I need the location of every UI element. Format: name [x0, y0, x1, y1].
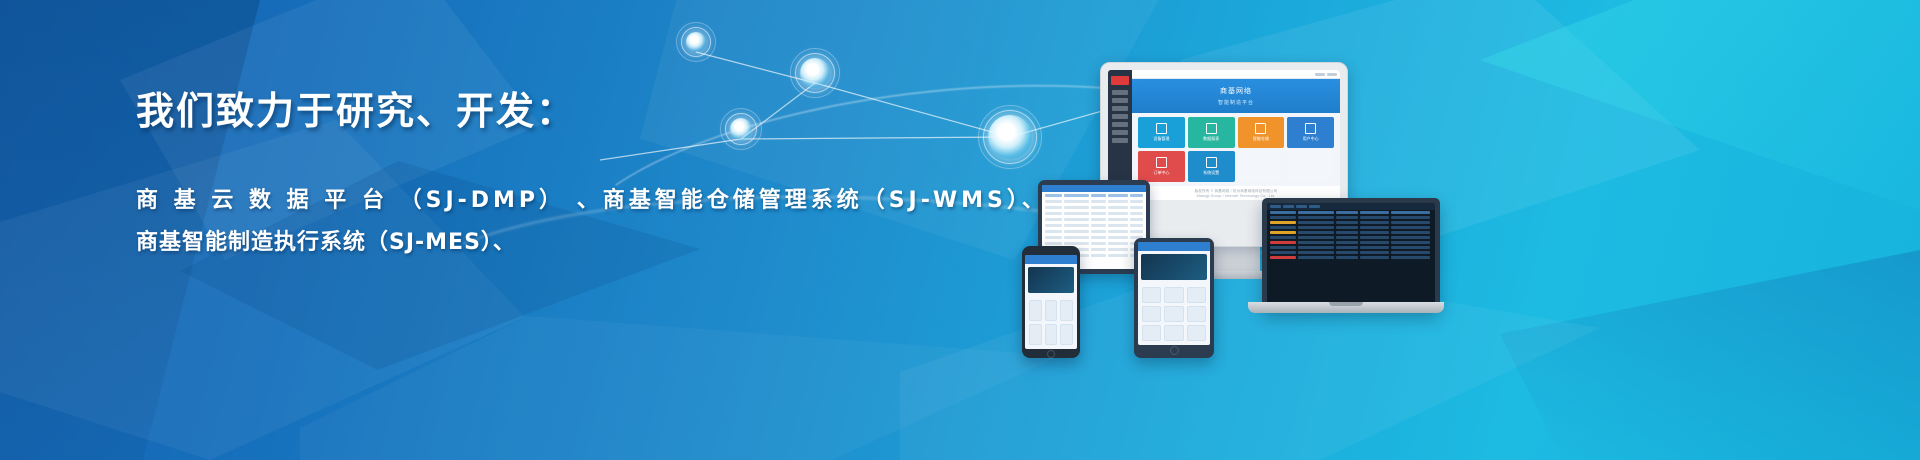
sidebar-item[interactable] [1112, 114, 1128, 119]
bg-polygon-7 [1480, 0, 1920, 300]
app-tile[interactable]: 数据报表 [1188, 117, 1235, 148]
toolbar-button[interactable] [1296, 205, 1307, 208]
app-logo-icon [1111, 76, 1129, 85]
banner-subline-2: 商基智能制造执行系统（SJ-MES）、 [136, 222, 956, 264]
app-tile-label: 系统设置 [1203, 170, 1219, 176]
phone-mockup [1022, 246, 1080, 358]
grid-item[interactable] [1164, 325, 1183, 341]
banner-copy: 我们致力于研究、开发： 商 基 云 数 据 平 台 （SJ-DMP） 、商基智能… [136, 90, 956, 264]
hero-banner: 我们致力于研究、开发： 商 基 云 数 据 平 台 （SJ-DMP） 、商基智能… [0, 0, 1920, 460]
laptop-screen [1267, 203, 1435, 307]
cart-icon [1156, 157, 1167, 168]
grid-item[interactable] [1029, 300, 1042, 321]
mini-table-dark [1267, 203, 1435, 307]
search-icon[interactable] [1315, 73, 1325, 76]
grid-item[interactable] [1029, 324, 1042, 345]
app-footer-en: Shangji Group / Internet Technology Co.,… [1197, 194, 1276, 198]
app-topbar[interactable] [1132, 70, 1340, 79]
banner-headline: 我们致力于研究、开发： [136, 90, 956, 134]
sidebar-item[interactable] [1112, 90, 1128, 95]
app-tile-grid: 设备管理 数据报表 智能仓储 [1132, 113, 1340, 186]
laptop-trackpad-notch [1329, 302, 1363, 306]
phone-screen [1025, 255, 1077, 349]
mini-app-ui [1138, 242, 1210, 345]
mini-app-header [1138, 242, 1210, 251]
mini-table-toolbar[interactable] [1267, 203, 1435, 210]
network-node-2-icon [800, 58, 830, 88]
sidebar-item[interactable] [1112, 138, 1128, 143]
table-row [1267, 255, 1435, 260]
chart-icon [1206, 123, 1217, 134]
grid-item[interactable] [1045, 324, 1058, 345]
tablet-portrait-mockup [1134, 238, 1214, 358]
app-tile[interactable]: 用户中心 [1287, 117, 1334, 148]
grid-item[interactable] [1045, 300, 1058, 321]
app-tile-label: 订单中心 [1153, 170, 1169, 176]
box-icon [1255, 123, 1266, 134]
bg-polygon-8 [1500, 250, 1920, 460]
device-mockup-cluster: 商基网络 智能制造平台 设备管理 数据报表 [1000, 50, 1520, 350]
laptop-lid [1262, 198, 1440, 312]
sidebar-item[interactable] [1112, 98, 1128, 103]
gear-icon [1206, 157, 1217, 168]
grid-item[interactable] [1164, 306, 1183, 322]
banner-subline-1: 商 基 云 数 据 平 台 （SJ-DMP） 、商基智能仓储管理系统（SJ-WM… [136, 180, 956, 222]
sidebar-item[interactable] [1112, 122, 1128, 127]
app-tile[interactable]: 订单中心 [1138, 151, 1185, 182]
app-tile[interactable]: 设备管理 [1138, 117, 1185, 148]
mini-app-banner [1141, 254, 1207, 280]
mini-app-grid [1138, 283, 1210, 345]
app-main: 商基网络 智能制造平台 设备管理 数据报表 [1132, 70, 1340, 200]
grid-item[interactable] [1187, 325, 1206, 341]
grid-item[interactable] [1142, 287, 1161, 303]
app-tile-label: 数据报表 [1203, 136, 1219, 142]
app-tile[interactable]: 智能仓储 [1238, 117, 1285, 148]
toolbar-button[interactable] [1283, 205, 1294, 208]
mini-app-header [1025, 255, 1077, 264]
app-hero-title: 商基网络 [1220, 86, 1252, 96]
grid-item[interactable] [1142, 325, 1161, 341]
grid-item[interactable] [1142, 306, 1161, 322]
laptop-mockup [1248, 198, 1444, 328]
toolbar-button[interactable] [1309, 205, 1320, 208]
app-tile-empty [1238, 151, 1285, 182]
user-avatar[interactable] [1327, 73, 1337, 76]
home-button-icon[interactable] [1047, 350, 1055, 358]
monitor-icon [1156, 123, 1167, 134]
app-tile-label: 用户中心 [1303, 136, 1319, 142]
sidebar-item[interactable] [1112, 106, 1128, 111]
grid-item[interactable] [1060, 300, 1073, 321]
toolbar-button[interactable] [1270, 205, 1281, 208]
mini-app-ui [1025, 255, 1077, 349]
grid-item[interactable] [1187, 306, 1206, 322]
app-tile[interactable]: 系统设置 [1188, 151, 1235, 182]
mini-app-banner [1028, 267, 1074, 293]
user-icon [1305, 123, 1316, 134]
app-hero: 商基网络 智能制造平台 [1132, 79, 1340, 113]
mini-app-grid [1025, 296, 1077, 349]
grid-item[interactable] [1060, 324, 1073, 345]
network-node-1-icon [686, 32, 706, 52]
app-tile-label: 智能仓储 [1253, 136, 1269, 142]
grid-item[interactable] [1187, 287, 1206, 303]
app-hero-subtitle: 智能制造平台 [1218, 99, 1254, 106]
grid-item[interactable] [1164, 287, 1183, 303]
tablet-portrait-screen [1138, 242, 1210, 345]
app-tile-label: 设备管理 [1153, 136, 1169, 142]
app-tile-empty [1287, 151, 1334, 182]
sidebar-item[interactable] [1112, 130, 1128, 135]
home-button-icon[interactable] [1170, 346, 1179, 355]
mini-table-header-bar [1042, 185, 1146, 192]
